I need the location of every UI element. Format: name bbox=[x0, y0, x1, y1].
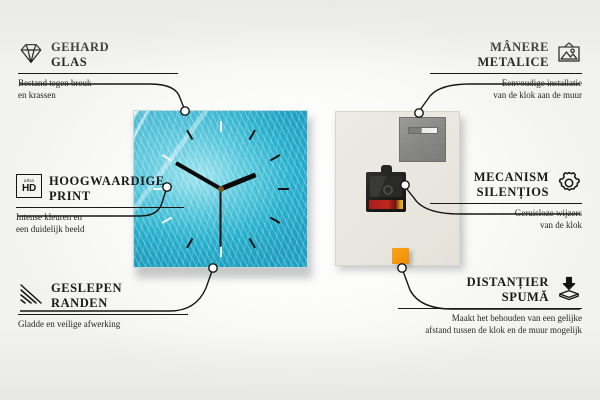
callout-rule bbox=[430, 203, 582, 204]
callout-subtitle: Maakt het behouden van een gelijke afsta… bbox=[398, 313, 582, 336]
mechanism-shaft bbox=[381, 165, 392, 173]
callout-subtitle: Geruisloze wijzers van de klok bbox=[430, 208, 582, 231]
gear-icon bbox=[556, 170, 582, 196]
infographic-canvas: GEHARD GLAS Bestand tegen breuk en krass… bbox=[0, 0, 600, 400]
clock-tick-12 bbox=[220, 121, 222, 132]
callout-subtitle: Gladde en veilige afwerking bbox=[18, 319, 188, 331]
callout-rule bbox=[18, 73, 178, 74]
callout-subtitle: Eenvoudige installatie van de klok aan d… bbox=[430, 78, 582, 101]
callout-mecanism-silentios: MECANISM SILENȚIOS Geruisloze wijzers va… bbox=[430, 170, 582, 231]
orange-foam-spacer bbox=[392, 248, 409, 264]
beveled-edges-icon bbox=[18, 281, 44, 307]
clock-tick-5 bbox=[248, 238, 255, 249]
battery-compartment-label bbox=[369, 200, 403, 209]
clock-tick-11 bbox=[186, 130, 193, 141]
ultra-hd-icon: ultra HD bbox=[16, 174, 42, 200]
quartz-clock-mechanism bbox=[366, 172, 406, 212]
mechanism-face bbox=[370, 176, 402, 197]
diamond-icon bbox=[18, 40, 44, 66]
clock-hand-cap bbox=[218, 186, 224, 192]
callout-title: MECANISM SILENȚIOS bbox=[474, 170, 549, 200]
mechanism-knob bbox=[383, 185, 393, 195]
callout-gehard-glas: GEHARD GLAS Bestand tegen breuk en krass… bbox=[18, 40, 178, 101]
callout-rule bbox=[18, 314, 188, 315]
callout-manere-metalice: MÂNERE METALICE Eenvoudige installatie v… bbox=[430, 40, 582, 101]
callout-title: DISTANȚIER SPUMĂ bbox=[467, 275, 549, 305]
callout-distantier-spuma: DISTANȚIER SPUMĂ Maakt het behouden van … bbox=[398, 275, 582, 336]
callout-title: HOOGWAARDIGE PRINT bbox=[49, 174, 165, 204]
callout-hoogwaardige-print: ultra HD HOOGWAARDIGE PRINT Intense kleu… bbox=[16, 174, 184, 235]
clock-hour-hand bbox=[220, 172, 257, 191]
clock-tick-1 bbox=[248, 130, 255, 141]
picture-hanger-icon bbox=[556, 40, 582, 66]
ultra-hd-big-text: HD bbox=[22, 184, 36, 194]
foam-spacer-icon bbox=[556, 275, 582, 301]
callout-title: MÂNERE METALICE bbox=[477, 40, 549, 70]
clock-tick-6 bbox=[220, 246, 222, 257]
clock-second-hand bbox=[220, 189, 222, 247]
callout-rule bbox=[430, 73, 582, 74]
clock-tick-10 bbox=[161, 154, 172, 161]
callout-title: GESLEPEN RANDEN bbox=[51, 281, 122, 311]
callout-subtitle: Intense kleuren en een duidelijk beeld bbox=[16, 212, 184, 235]
clock-tick-3 bbox=[278, 188, 289, 190]
callout-geslepen-randen: GESLEPEN RANDEN Gladde en veilige afwerk… bbox=[18, 281, 188, 331]
callout-subtitle: Bestand tegen breuk en krassen bbox=[18, 78, 178, 101]
clock-tick-2 bbox=[269, 154, 280, 161]
callout-rule bbox=[398, 308, 582, 309]
hanger-slot bbox=[408, 127, 438, 134]
clock-tick-7 bbox=[186, 238, 193, 249]
callout-rule bbox=[16, 207, 184, 208]
metal-hanger-plate bbox=[399, 117, 446, 162]
clock-tick-4 bbox=[269, 217, 280, 224]
callout-title: GEHARD GLAS bbox=[51, 40, 109, 70]
